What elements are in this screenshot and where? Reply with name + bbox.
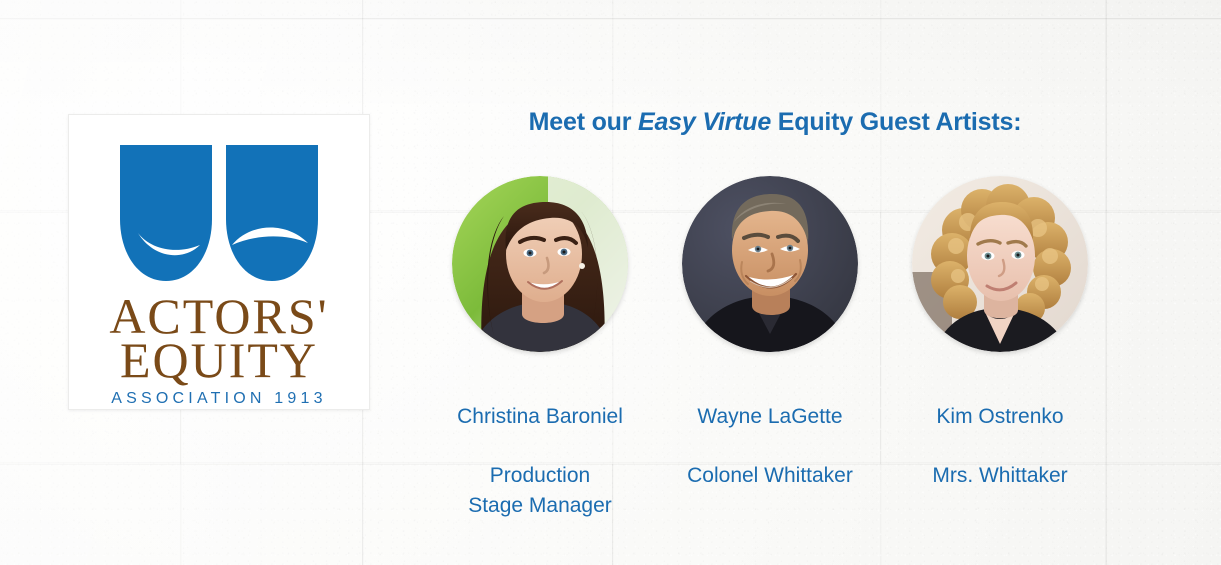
actors-equity-logo-card: ACTORS' EQUITY ASSOCIATION 1913	[68, 114, 370, 410]
wayne-lagette-headshot	[682, 176, 858, 352]
kim-ostrenko-headshot	[912, 176, 1088, 352]
page-title: Meet our Easy Virtue Equity Guest Artist…	[470, 108, 1080, 137]
artist-name: Kim Ostrenko	[932, 402, 1067, 432]
logo-wordmark: ACTORS' EQUITY ASSOCIATION 1913	[109, 291, 328, 407]
artist-role: Mrs. Whittaker	[932, 461, 1067, 491]
theatre-masks-icon	[116, 141, 322, 285]
artist-role: Colonel Whittaker	[687, 461, 853, 491]
headline-prefix: Meet our	[529, 108, 638, 136]
headline-show-title: Easy Virtue	[638, 108, 771, 136]
logo-line-equity: EQUITY	[109, 335, 328, 385]
christina-baroniel-headshot	[452, 176, 628, 352]
artist-caption: Wayne LaGette Colonel Whittaker	[687, 372, 853, 521]
guest-artists-list: Christina Baroniel Production Stage Mana…	[440, 176, 1100, 551]
artist-card: Wayne LaGette Colonel Whittaker	[670, 176, 870, 521]
artist-name: Wayne LaGette	[687, 402, 853, 432]
artist-name: Christina Baroniel	[457, 402, 623, 432]
headline-suffix: Equity Guest Artists:	[771, 108, 1021, 136]
artist-caption: Kim Ostrenko Mrs. Whittaker	[932, 372, 1067, 521]
logo-line-association: ASSOCIATION 1913	[109, 391, 328, 407]
page-canvas: ACTORS' EQUITY ASSOCIATION 1913 Meet our…	[0, 0, 1221, 565]
artist-role: Production Stage Manager	[457, 461, 623, 521]
artist-card: Kim Ostrenko Mrs. Whittaker	[900, 176, 1100, 521]
artist-card: Christina Baroniel Production Stage Mana…	[440, 176, 640, 551]
artist-caption: Christina Baroniel Production Stage Mana…	[457, 372, 623, 551]
